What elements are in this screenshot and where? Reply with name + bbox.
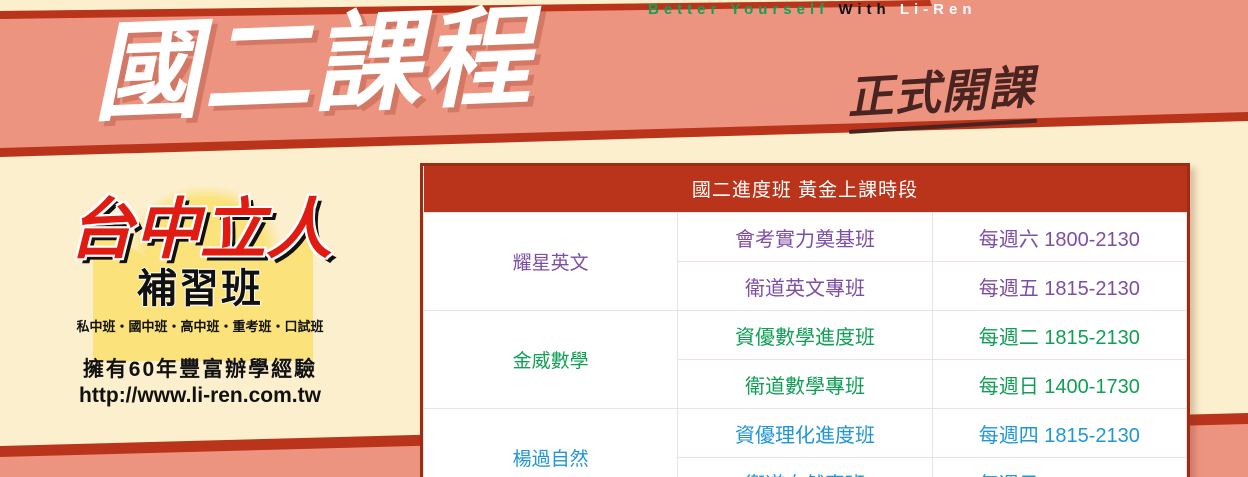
schedule-time-cell: 每週六 1800-2130 — [932, 213, 1186, 262]
schedule-time-cell: 每週日 0900-1230 — [932, 458, 1186, 477]
schedule-table: 國二進度班 黃金上課時段 耀星英文會考實力奠基班每週六 1800-2130衛道英… — [423, 166, 1187, 477]
tagline-black: With — [838, 1, 890, 18]
schedule-course-cell: 衛道自然專班 — [678, 458, 932, 477]
tagline: Better Yourself With Li-Ren — [648, 1, 977, 18]
table-row: 楊過自然資優理化進度班每週四 1815-2130 — [424, 409, 1187, 458]
schedule-subject-cell: 耀星英文 — [424, 213, 678, 311]
schedule-course-cell: 衛道英文專班 — [678, 262, 932, 311]
page-subtitle: 正式開課 — [845, 51, 1037, 134]
logo-type: 補習班 — [35, 256, 365, 314]
schedule-subject-cell: 楊過自然 — [424, 409, 678, 477]
brand-logo: 台中立人 補習班 私中班・國中班・高中班・重考班・口試班 擁有60年豐富辦學經驗… — [35, 196, 365, 408]
table-row: 耀星英文會考實力奠基班每週六 1800-2130 — [424, 213, 1187, 262]
schedule-course-cell: 會考實力奠基班 — [678, 213, 932, 262]
schedule-course-cell: 衛道數學專班 — [678, 360, 932, 409]
logo-experience: 擁有60年豐富辦學經驗 — [35, 353, 365, 383]
schedule-header-row: 國二進度班 黃金上課時段 — [424, 166, 1187, 213]
schedule-time-cell: 每週二 1815-2130 — [932, 311, 1186, 360]
tagline-white: Li-Ren — [900, 1, 977, 18]
schedule-time-cell: 每週四 1815-2130 — [932, 409, 1186, 458]
logo-class-list: 私中班・國中班・高中班・重考班・口試班 — [35, 316, 365, 335]
schedule-time-cell: 每週日 1400-1730 — [932, 360, 1186, 409]
logo-name: 台中立人 — [35, 196, 365, 262]
schedule-header-title: 國二進度班 黃金上課時段 — [424, 166, 1187, 213]
schedule-time-cell: 每週五 1815-2130 — [932, 262, 1186, 311]
tagline-green: Better Yourself — [648, 1, 829, 18]
schedule-table-container: 國二進度班 黃金上課時段 耀星英文會考實力奠基班每週六 1800-2130衛道英… — [420, 163, 1190, 477]
course-promo-banner: Better Yourself With Li-Ren 國二課程 正式開課 台中… — [0, 0, 1248, 477]
schedule-course-cell: 資優理化進度班 — [678, 409, 932, 458]
schedule-table-body: 耀星英文會考實力奠基班每週六 1800-2130衛道英文專班每週五 1815-2… — [424, 213, 1187, 477]
schedule-table-head: 國二進度班 黃金上課時段 — [424, 166, 1187, 213]
page-title: 國二課程 — [90, 1, 534, 131]
table-row: 金威數學資優數學進度班每週二 1815-2130 — [424, 311, 1187, 360]
schedule-subject-cell: 金威數學 — [424, 311, 678, 409]
schedule-course-cell: 資優數學進度班 — [678, 311, 932, 360]
logo-website-url[interactable]: http://www.li-ren.com.tw — [35, 384, 365, 408]
